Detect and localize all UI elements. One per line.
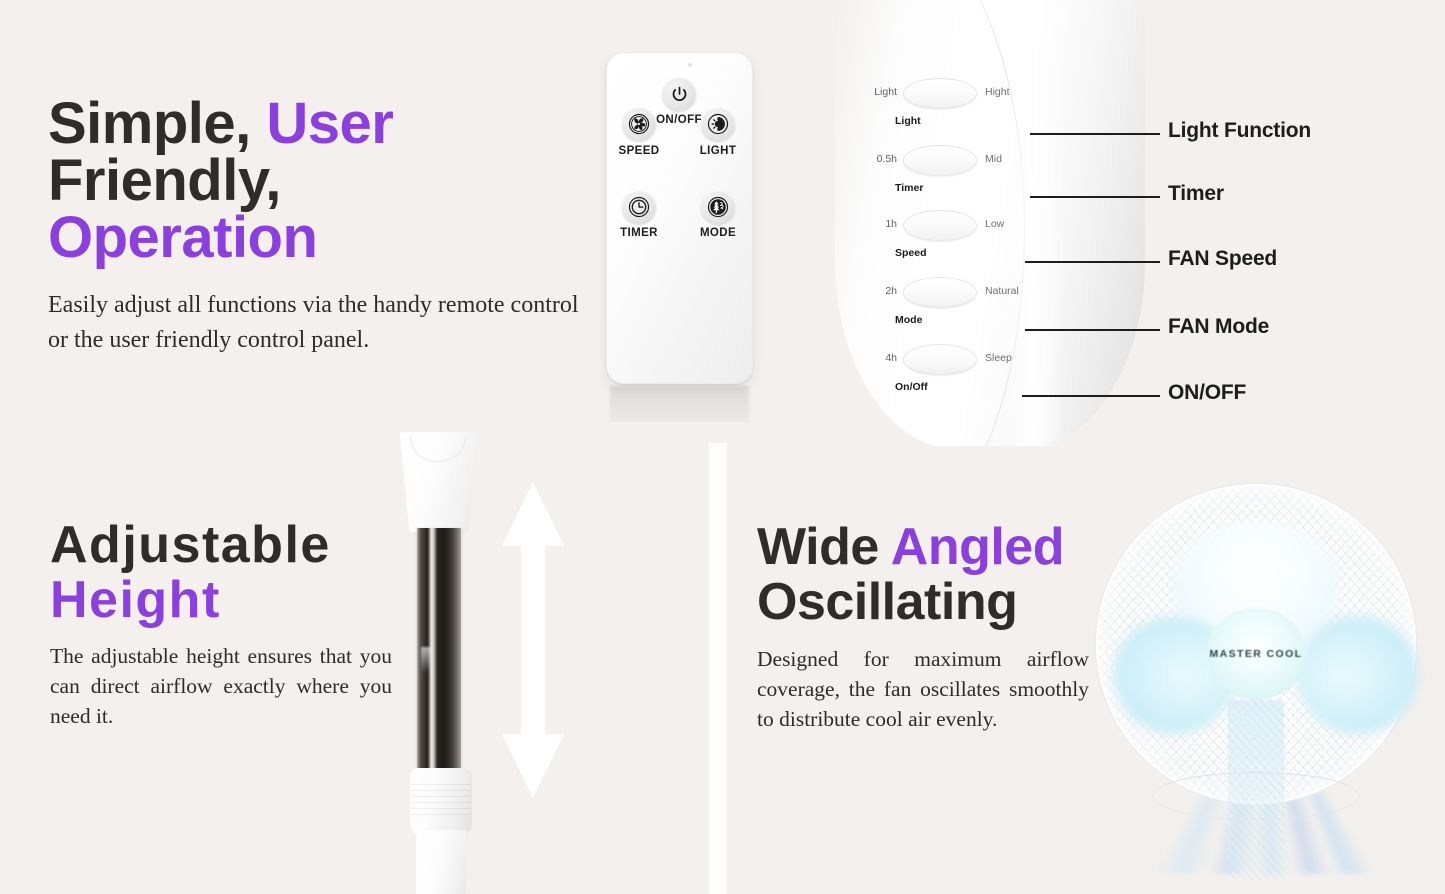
oscillating-headline-line2: Oscillating [757, 573, 1017, 631]
control-under-label-speed: Speed [895, 247, 927, 259]
callout-line [1022, 395, 1160, 397]
callout-line [1030, 133, 1160, 135]
remote-label-speed: SPEED [605, 145, 673, 157]
pole-collar-ridges [411, 784, 471, 820]
oscillating-fan-photo: MASTER COOL [1078, 478, 1445, 894]
control-left-label-4h: 4h [835, 352, 897, 364]
remote-control: ON/OFF SPEED [600, 52, 780, 422]
fan-control-panel-photo: Light Hight Light 0.5h Mid Timer 1h Low … [835, 0, 1175, 446]
adjustable-height-text-block: Adjustable Height The adjustable height … [50, 518, 400, 731]
remote-button-light[interactable] [701, 107, 735, 141]
oscillating-headline: Wide Angled Oscillating [757, 520, 1097, 629]
control-right-label-natural: Natural [985, 285, 1019, 297]
remote-label-timer: TIMER [605, 227, 673, 239]
callout-timer: Timer [1030, 186, 1330, 208]
oscillating-headline-part1: Wide [757, 520, 891, 576]
panel-divider-vertical [709, 443, 727, 894]
fan-hub-brand: MASTER COOL [1210, 648, 1303, 660]
sun-icon [707, 113, 729, 135]
operation-headline-line2: Operation [48, 205, 317, 270]
control-right-label-low: Low [985, 218, 1004, 230]
oscillating-headline-accent: Angled [891, 520, 1064, 576]
control-left-label-1h: 1h [835, 218, 897, 230]
clock-icon [628, 196, 650, 218]
callout-fan-speed: FAN Speed [1025, 251, 1325, 273]
fan-stem [1228, 700, 1284, 880]
pole-lower-tube [416, 830, 466, 894]
control-under-label-light: Light [895, 115, 921, 127]
remote-reflection [610, 386, 749, 422]
callout-label: Timer [1168, 182, 1224, 206]
infographic-page: Simple, User Friendly, Operation Easily … [0, 0, 1445, 894]
callout-onoff: ON/OFF [1022, 385, 1322, 407]
control-left-label-light: Light [835, 86, 897, 98]
control-left-label-2h: 2h [835, 285, 897, 297]
control-left-label-05h: 0.5h [835, 153, 897, 165]
power-icon [670, 85, 689, 104]
remote-button-onoff[interactable] [662, 77, 696, 111]
control-key-onoff[interactable] [903, 344, 977, 375]
control-right-label-hight: Hight [985, 86, 1010, 98]
callout-label: Light Function [1168, 119, 1311, 143]
tree-wind-icon [707, 196, 729, 218]
callout-label: ON/OFF [1168, 381, 1246, 405]
telescoping-pole-photo [392, 432, 582, 894]
adjustable-height-headline-line1: Adjustable [50, 518, 331, 574]
callout-line [1030, 196, 1160, 198]
operation-headline-part3: Friendly, [48, 148, 281, 213]
callout-line [1025, 261, 1160, 263]
remote-label-light: LIGHT [685, 145, 751, 157]
adjustable-height-headline: Adjustable Height [50, 518, 400, 628]
remote-button-timer[interactable] [622, 190, 656, 224]
remote-ir-led [688, 63, 692, 67]
control-key-speed[interactable] [903, 210, 977, 241]
operation-text-block: Simple, User Friendly, Operation Easily … [48, 96, 608, 357]
operation-headline-accent: User [266, 96, 393, 156]
arrow-up-down-icon [500, 480, 566, 800]
operation-body-text: Easily adjust all functions via the hand… [48, 288, 588, 356]
control-key-light[interactable] [903, 78, 977, 109]
fan-hub: MASTER COOL [1206, 608, 1306, 700]
fan-icon [628, 113, 650, 135]
control-right-label-sleep: Sleep [985, 352, 1012, 364]
callout-line [1025, 329, 1160, 331]
remote-button-speed[interactable] [622, 107, 656, 141]
remote-label-mode: MODE [685, 227, 751, 239]
control-under-label-timer: Timer [895, 182, 923, 194]
control-under-label-onoff: On/Off [895, 381, 928, 393]
control-under-label-mode: Mode [895, 314, 922, 326]
operation-headline: Simple, User Friendly, Operation [48, 96, 608, 266]
callout-light-function: Light Function [1030, 123, 1330, 145]
callout-fan-mode: FAN Mode [1025, 319, 1325, 341]
callout-label: FAN Mode [1168, 315, 1269, 339]
pole-chrome-highlight [421, 647, 431, 673]
callout-label: FAN Speed [1168, 247, 1277, 271]
oscillating-text-block: Wide Angled Oscillating Designed for max… [757, 520, 1097, 734]
control-right-label-mid: Mid [985, 153, 1002, 165]
control-key-timer[interactable] [903, 145, 977, 176]
adjustable-height-body-text: The adjustable height ensures that you c… [50, 642, 392, 731]
remote-button-mode[interactable] [701, 190, 735, 224]
oscillating-body-text: Designed for maximum airflow coverage, t… [757, 645, 1089, 734]
adjustable-height-headline-line2: Height [50, 571, 221, 629]
fan-blade-right [1296, 616, 1418, 734]
control-key-mode[interactable] [903, 277, 977, 308]
